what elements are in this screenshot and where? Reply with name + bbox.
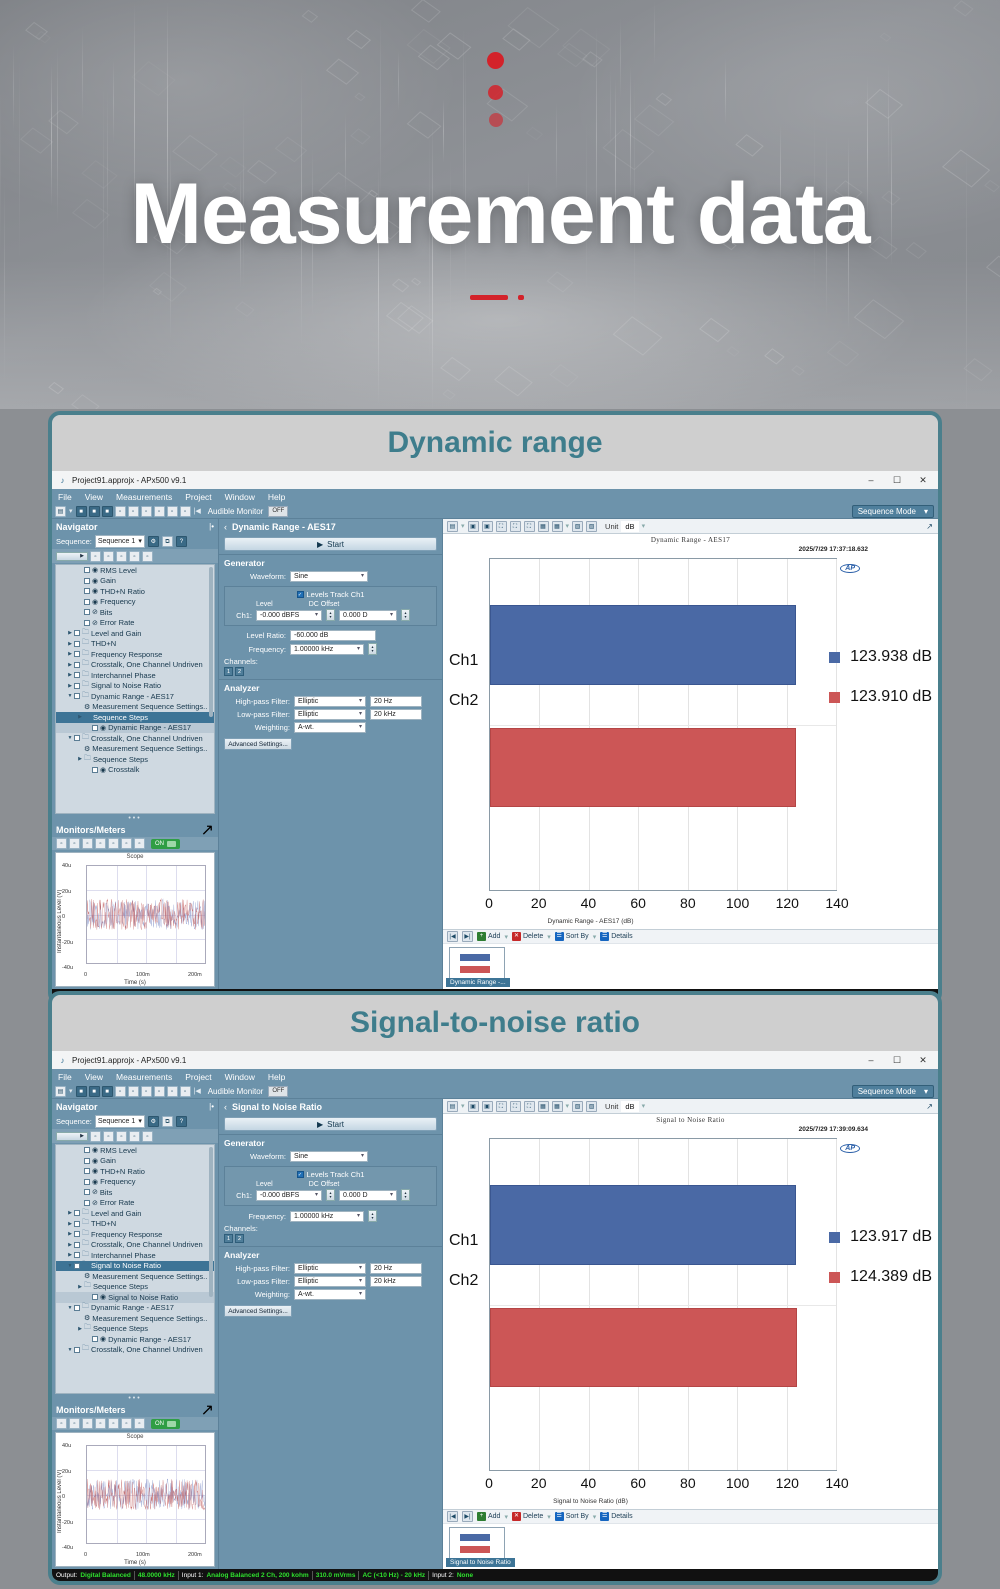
export-graph-icon[interactable]: ▣ bbox=[468, 521, 479, 532]
result-sort-by-button[interactable]: ☰Sort By bbox=[555, 932, 589, 941]
chevron-right-icon[interactable]: ▶ bbox=[66, 1231, 74, 1237]
ch1-level-input[interactable]: -0.000 dBFS▾ bbox=[256, 1190, 322, 1201]
tree-item[interactable]: ▶🗀Interchannel Phase bbox=[56, 670, 214, 681]
checkbox[interactable] bbox=[84, 599, 90, 605]
checkbox[interactable] bbox=[74, 1347, 80, 1353]
minimize-button[interactable]: – bbox=[858, 1051, 884, 1069]
monitors-power-toggle[interactable]: ON bbox=[151, 1419, 180, 1429]
start-button[interactable]: ▶Start bbox=[224, 1117, 437, 1131]
tree-item[interactable]: ▶🗀THD+N bbox=[56, 1219, 214, 1230]
chevron-down-icon[interactable]: ▼ bbox=[66, 1305, 74, 1311]
tree-item[interactable]: ▶🗀Interchannel Phase bbox=[56, 1250, 214, 1261]
graph-toolbar: ▤▾▣▣⛶⛶⛶▦▦▾▧▧UnitdB▾↗ bbox=[443, 519, 938, 534]
menu-item-project[interactable]: Project bbox=[185, 1072, 211, 1082]
frequency-input[interactable]: 1.00000 kHz▾ bbox=[290, 644, 364, 655]
bar-meter-icon[interactable]: ▫ bbox=[128, 1086, 139, 1097]
tree-item[interactable]: ⚙Measurement Sequence Settings.. bbox=[56, 1313, 214, 1324]
save-graph-icon[interactable]: ▤ bbox=[447, 1101, 458, 1112]
fft-icon[interactable]: ▫ bbox=[121, 1418, 132, 1429]
unit-select[interactable]: dB bbox=[621, 521, 638, 532]
delete-icon[interactable]: ▫ bbox=[116, 551, 127, 562]
collapse-icon[interactable]: ▫ bbox=[142, 1131, 153, 1142]
channels-row: Channels: bbox=[219, 656, 442, 667]
checkbox[interactable] bbox=[92, 1294, 98, 1300]
frequency-stepper[interactable]: ▴▾ bbox=[368, 1210, 377, 1222]
tree-item[interactable]: ⊘Error Rate bbox=[56, 618, 214, 629]
clock-icon[interactable]: ▫ bbox=[108, 1418, 119, 1429]
bar-meter-icon[interactable]: ▫ bbox=[128, 506, 139, 517]
tree-item[interactable]: ▶🗀Sequence Steps bbox=[56, 1282, 214, 1293]
tree-item[interactable]: ◉THD+N Ratio bbox=[56, 586, 214, 597]
checkbox[interactable] bbox=[84, 1168, 90, 1174]
start-button-label: Start bbox=[327, 540, 344, 549]
panel-pin-icon[interactable]: |• bbox=[209, 1102, 214, 1111]
dropdown-caret-icon[interactable]: ▾ bbox=[593, 1513, 597, 1521]
checkbox[interactable] bbox=[84, 1158, 90, 1164]
checkbox[interactable] bbox=[74, 1242, 80, 1248]
signal-path-icon[interactable]: ▫ bbox=[115, 506, 126, 517]
meters-icon[interactable]: ▫ bbox=[95, 1418, 106, 1429]
chevron-down-icon[interactable]: ▼ bbox=[66, 1263, 74, 1269]
chevron-right-icon[interactable]: ▶ bbox=[76, 756, 84, 762]
tree-item[interactable]: ◉Crosstalk bbox=[56, 765, 214, 776]
open-project-icon[interactable]: ■ bbox=[76, 506, 87, 517]
menu-item-help[interactable]: Help bbox=[268, 1072, 285, 1082]
monitors-header: Monitors/Meters↗ bbox=[52, 1403, 218, 1417]
navigator-button-row: ▶▫▫▫▫▫ bbox=[52, 549, 218, 563]
dropdown-caret-icon[interactable]: ▾ bbox=[68, 507, 74, 515]
unit-select[interactable]: dB bbox=[621, 1101, 638, 1112]
spectrum-icon[interactable]: ▫ bbox=[82, 1418, 93, 1429]
first-result-icon[interactable]: |◀ bbox=[447, 931, 458, 942]
fit-icon[interactable]: ⛶ bbox=[510, 521, 521, 532]
print-graph-icon[interactable]: ▣ bbox=[482, 1101, 493, 1112]
chevron-down-icon[interactable]: ▼ bbox=[66, 693, 74, 699]
tree-item[interactable]: ⊘Bits bbox=[56, 607, 214, 618]
levels-track-checkbox[interactable]: ✓ bbox=[297, 591, 304, 598]
dropdown-caret-icon[interactable]: ▾ bbox=[593, 933, 597, 941]
maximize-button[interactable]: ☐ bbox=[884, 1051, 910, 1069]
weighting-select[interactable]: A-wt.▾ bbox=[294, 1289, 366, 1300]
channel-button-1[interactable]: 1 bbox=[224, 1234, 233, 1243]
dropdown-caret-icon[interactable]: ▾ bbox=[566, 1102, 570, 1110]
menu-item-measurements[interactable]: Measurements bbox=[116, 492, 172, 502]
advanced-settings-button[interactable]: Advanced Settings... bbox=[224, 738, 292, 750]
back-chevron-icon[interactable]: ‹ bbox=[224, 522, 227, 532]
levels-view-icon[interactable]: ▫ bbox=[69, 1418, 80, 1429]
expand-icon[interactable]: ⛶ bbox=[524, 521, 535, 532]
highpass-frequency-input[interactable]: 20 Hz bbox=[370, 1263, 422, 1274]
tree-item[interactable]: ⚙Measurement Sequence Settings.. bbox=[56, 702, 214, 713]
divider bbox=[134, 1571, 135, 1580]
folder-icon: 🗀 bbox=[82, 1229, 89, 1240]
close-button[interactable]: ✕ bbox=[910, 1051, 936, 1069]
run-sequence-button[interactable]: ▶ bbox=[56, 552, 88, 561]
run-sequence-button[interactable]: ▶ bbox=[56, 1132, 88, 1141]
measurement-dot-icon: ◉ bbox=[92, 598, 98, 606]
tree-item[interactable]: ▶🗀THD+N bbox=[56, 639, 214, 650]
weighting-select[interactable]: A-wt.▾ bbox=[294, 722, 366, 733]
checkbox[interactable] bbox=[74, 1221, 80, 1227]
tree-item[interactable]: ◉Gain bbox=[56, 1156, 214, 1167]
chevron-right-icon[interactable]: ▶ bbox=[66, 672, 74, 678]
ch1-level-input[interactable]: -0.000 dBFS▾ bbox=[256, 610, 322, 621]
level-column-label: Level bbox=[256, 1181, 273, 1188]
chevron-right-icon[interactable]: ▶ bbox=[66, 1242, 74, 1248]
menu-item-measurements[interactable]: Measurements bbox=[116, 1072, 172, 1082]
lowpass-frequency-input[interactable]: 20 kHz bbox=[370, 1276, 422, 1287]
tree-item[interactable]: ⚙Measurement Sequence Settings.. bbox=[56, 744, 214, 755]
expand-icon[interactable]: ⛶ bbox=[524, 1101, 535, 1112]
highpass-filter-value: Elliptic bbox=[298, 696, 318, 707]
result-add-button[interactable]: +Add bbox=[477, 932, 500, 941]
checkbox[interactable] bbox=[74, 662, 80, 668]
export-graph-icon[interactable]: ▣ bbox=[468, 1101, 479, 1112]
tree-item[interactable]: ▼🗀Dynamic Range - AES17 bbox=[56, 691, 214, 702]
graph-settings-icon[interactable]: ▧ bbox=[586, 521, 597, 532]
lowpass-filter-select[interactable]: Elliptic▾ bbox=[294, 709, 366, 720]
zoom-icon[interactable]: ⛶ bbox=[496, 1101, 507, 1112]
scope-view-icon[interactable]: ▫ bbox=[56, 1418, 67, 1429]
frequency-input[interactable]: 1.00000 kHz▾ bbox=[290, 1211, 364, 1222]
chart-category-label: Ch2 bbox=[449, 1272, 478, 1290]
analyzer-section-header: Analyzer bbox=[219, 679, 442, 695]
waveform-icon[interactable]: ▫ bbox=[154, 1086, 165, 1097]
dropdown-caret-icon[interactable]: ▾ bbox=[566, 522, 570, 530]
scope-plot-area bbox=[86, 1445, 206, 1544]
collapse-icon[interactable]: ▫ bbox=[142, 551, 153, 562]
result-delete-button[interactable]: ✕Delete bbox=[512, 932, 543, 941]
highpass-filter-select[interactable]: Elliptic▾ bbox=[294, 696, 366, 707]
dropdown-caret-icon[interactable]: ▾ bbox=[504, 1513, 508, 1521]
folder-icon: 🗀 bbox=[82, 1344, 89, 1355]
dropdown-caret-icon[interactable]: ▾ bbox=[68, 1087, 74, 1095]
chevron-right-icon[interactable]: ▶ bbox=[66, 683, 74, 689]
checkbox[interactable] bbox=[84, 588, 90, 594]
start-button[interactable]: ▶Start bbox=[224, 537, 437, 551]
checkbox[interactable] bbox=[74, 641, 80, 647]
tree-item[interactable]: ▶🗀Crosstalk, One Channel Undriven bbox=[56, 660, 214, 671]
monitors-power-toggle[interactable]: ON bbox=[151, 839, 180, 849]
tree-item[interactable]: ◉Frequency bbox=[56, 1177, 214, 1188]
ch1-level-stepper[interactable]: ▴▾ bbox=[326, 609, 335, 621]
result-details-button[interactable]: ☰Details bbox=[600, 1512, 632, 1521]
menu-item-project[interactable]: Project bbox=[185, 492, 211, 502]
frequency-stepper[interactable]: ▴▾ bbox=[368, 643, 377, 655]
checkbox[interactable] bbox=[74, 735, 80, 741]
clock-icon[interactable]: ▫ bbox=[167, 1086, 178, 1097]
save-graph-icon[interactable]: ▤ bbox=[447, 521, 458, 532]
tree-item[interactable]: ◉RMS Level bbox=[56, 565, 214, 576]
clock-icon[interactable]: ▫ bbox=[167, 506, 178, 517]
measurement-dot-icon: ◉ bbox=[92, 587, 98, 595]
tree-item-label: Signal to Noise Ratio bbox=[108, 1293, 178, 1302]
chart-icon[interactable]: ▫ bbox=[103, 1131, 114, 1142]
back-chevron-icon[interactable]: ‹ bbox=[224, 1102, 227, 1112]
dropdown-caret-icon[interactable]: ▾ bbox=[504, 933, 508, 941]
chevron-right-icon[interactable]: ▶ bbox=[66, 1221, 74, 1227]
chart-icon[interactable]: ▫ bbox=[103, 551, 114, 562]
measurement-card: Dynamic range♪Project91.approjx - APx500… bbox=[48, 411, 942, 1005]
list-icon[interactable]: ▫ bbox=[134, 838, 145, 849]
panel-resize-handle[interactable]: ••• bbox=[52, 815, 218, 823]
print-graph-icon[interactable]: ▣ bbox=[482, 521, 493, 532]
export-icon[interactable]: ▫ bbox=[129, 1131, 140, 1142]
ch1-dc-offset-value: 0.000 D bbox=[343, 1190, 368, 1201]
checkbox[interactable] bbox=[74, 693, 80, 699]
tree-item[interactable]: ▼🗀Crosstalk, One Channel Undriven bbox=[56, 733, 214, 744]
chevron-down-icon[interactable]: ▾ bbox=[642, 1102, 646, 1110]
spectrum-icon[interactable]: ▫ bbox=[82, 838, 93, 849]
checkbox[interactable] bbox=[84, 567, 90, 573]
first-result-icon[interactable]: |◀ bbox=[447, 1511, 458, 1522]
tree-item[interactable]: ▶🗀Frequency Response bbox=[56, 1229, 214, 1240]
checkbox[interactable] bbox=[74, 1305, 80, 1311]
lowpass-frequency-input[interactable]: 20 kHz bbox=[370, 709, 422, 720]
checkbox[interactable] bbox=[84, 578, 90, 584]
close-button[interactable]: ✕ bbox=[910, 471, 936, 489]
popout-icon[interactable]: ↗ bbox=[926, 522, 933, 531]
chevron-down-icon[interactable]: ▼ bbox=[66, 735, 74, 741]
dropdown-caret-icon[interactable]: ▾ bbox=[547, 1513, 551, 1521]
report-icon[interactable]: ▫ bbox=[141, 506, 152, 517]
checkbox[interactable] bbox=[74, 1252, 80, 1258]
menu-item-window[interactable]: Window bbox=[225, 1072, 255, 1082]
fit-icon[interactable]: ⛶ bbox=[510, 1101, 521, 1112]
channel-button-2[interactable]: 2 bbox=[235, 667, 244, 676]
chevron-right-icon[interactable]: ▶ bbox=[76, 1326, 84, 1332]
chevron-right-icon[interactable]: ▶ bbox=[76, 714, 84, 720]
tree-item[interactable]: ▼🗀Crosstalk, One Channel Undriven bbox=[56, 1345, 214, 1356]
open-project-icon[interactable]: ■ bbox=[76, 1086, 87, 1097]
sequence-mode-selector[interactable]: Sequence Mode▾ bbox=[852, 1085, 934, 1098]
delete-icon[interactable]: ▫ bbox=[116, 1131, 127, 1142]
chevron-down-icon[interactable]: ▾ bbox=[642, 522, 646, 530]
sequence-select[interactable]: Sequence 1▾ bbox=[95, 1115, 145, 1128]
result-button-label: Sort By bbox=[566, 1513, 589, 1520]
ch1-dc-offset-stepper[interactable]: ▴▾ bbox=[401, 1189, 410, 1201]
chevron-right-icon[interactable]: ▶ bbox=[66, 1252, 74, 1258]
menu-item-file[interactable]: File bbox=[58, 492, 72, 502]
help-icon[interactable]: ? bbox=[176, 536, 187, 547]
menu-item-view[interactable]: View bbox=[85, 1072, 103, 1082]
sequence-mode-selector[interactable]: Sequence Mode▾ bbox=[852, 505, 934, 518]
scope-x-tick: 100m bbox=[136, 1552, 150, 1558]
popout-icon[interactable]: ↗ bbox=[201, 1400, 214, 1420]
result-thumbnail[interactable] bbox=[449, 1527, 505, 1559]
chevron-right-icon[interactable]: ▶ bbox=[66, 641, 74, 647]
tree-item[interactable]: ▶🗀Sequence Steps bbox=[56, 754, 214, 765]
result-details-button[interactable]: ☰Details bbox=[600, 932, 632, 941]
signal-path-icon[interactable]: ▫ bbox=[115, 1086, 126, 1097]
zoom-icon[interactable]: ⛶ bbox=[496, 521, 507, 532]
scope-y-tick: -40u bbox=[62, 965, 73, 971]
checkbox[interactable] bbox=[74, 1231, 80, 1237]
waveform-select[interactable]: Sine▾ bbox=[290, 1151, 368, 1162]
dropdown-caret-icon[interactable]: ▾ bbox=[461, 1102, 465, 1110]
scope-view-icon[interactable]: ▫ bbox=[56, 838, 67, 849]
panel-pin-icon[interactable]: |• bbox=[209, 522, 214, 531]
navigator-tree[interactable]: ◉RMS Level◉Gain◉THD+N Ratio◉Frequency⊘Bi… bbox=[55, 564, 215, 814]
waveform-select[interactable]: Sine▾ bbox=[290, 571, 368, 582]
table-view-icon[interactable]: ▦ bbox=[538, 521, 549, 532]
prev-icon[interactable]: |◀ bbox=[193, 507, 202, 515]
ch1-dc-offset-stepper[interactable]: ▴▾ bbox=[401, 609, 410, 621]
dropdown-caret-icon[interactable]: ▾ bbox=[461, 522, 465, 530]
tree-item[interactable]: ▶🗀Sequence Steps bbox=[56, 1324, 214, 1335]
tree-item[interactable]: ▶🗀Level and Gain bbox=[56, 628, 214, 639]
checkbox[interactable] bbox=[74, 1263, 80, 1269]
navigator-tree[interactable]: ◉RMS Level◉Gain◉THD+N Ratio◉Frequency⊘Bi… bbox=[55, 1144, 215, 1394]
table-view-icon[interactable]: ▦ bbox=[538, 1101, 549, 1112]
tree-item[interactable]: ⚙Measurement Sequence Settings.. bbox=[56, 1271, 214, 1282]
checkbox[interactable] bbox=[74, 672, 80, 678]
tree-item-label: THD+N bbox=[91, 1219, 116, 1228]
popout-icon[interactable]: ↗ bbox=[201, 820, 214, 840]
save-project-icon[interactable]: ■ bbox=[89, 506, 100, 517]
levels-track-checkbox[interactable]: ✓ bbox=[297, 1171, 304, 1178]
checkbox[interactable] bbox=[92, 1336, 98, 1342]
minimize-button[interactable]: – bbox=[858, 471, 884, 489]
audible-monitor-toggle[interactable]: OFF bbox=[268, 1086, 288, 1097]
tree-item[interactable]: ▶🗀Frequency Response bbox=[56, 649, 214, 660]
chevron-down-icon[interactable]: ▼ bbox=[66, 1347, 74, 1353]
tree-item[interactable]: ▼🗀Signal to Noise Ratio bbox=[56, 1261, 214, 1272]
tree-item[interactable]: ◉RMS Level bbox=[56, 1145, 214, 1156]
checkbox[interactable] bbox=[74, 630, 80, 636]
settings-gear-icon[interactable]: ⚙ bbox=[148, 536, 159, 547]
list-icon[interactable]: ▫ bbox=[134, 1418, 145, 1429]
tree-item[interactable]: ▼🗀Dynamic Range - AES17 bbox=[56, 1303, 214, 1314]
checkbox[interactable] bbox=[84, 620, 90, 626]
new-project-icon[interactable]: ▤ bbox=[55, 506, 66, 517]
settings-gear-icon[interactable]: ■ bbox=[102, 1086, 113, 1097]
tree-scrollbar[interactable] bbox=[209, 1147, 213, 1297]
fft-icon[interactable]: ▫ bbox=[121, 838, 132, 849]
result-delete-button[interactable]: ✕Delete bbox=[512, 1512, 543, 1521]
result-add-button[interactable]: +Add bbox=[477, 1512, 500, 1521]
copy-icon[interactable]: ⧉ bbox=[162, 1116, 173, 1127]
scope-icon[interactable]: ▫ bbox=[180, 506, 191, 517]
report-icon[interactable]: ▫ bbox=[141, 1086, 152, 1097]
checkbox[interactable] bbox=[74, 683, 80, 689]
chevron-right-icon[interactable]: ▶ bbox=[66, 630, 74, 636]
tree-scrollbar[interactable] bbox=[209, 567, 213, 717]
new-project-icon[interactable]: ▤ bbox=[55, 1086, 66, 1097]
channel-button-1[interactable]: 1 bbox=[224, 667, 233, 676]
insert-icon[interactable]: ▫ bbox=[90, 551, 101, 562]
menu-item-help[interactable]: Help bbox=[268, 492, 285, 502]
prev-icon[interactable]: |◀ bbox=[193, 1087, 202, 1095]
menu-item-view[interactable]: View bbox=[85, 492, 103, 502]
waveform-label: Waveform: bbox=[224, 572, 286, 581]
checkbox[interactable] bbox=[92, 725, 98, 731]
graph-settings-icon[interactable]: ▧ bbox=[586, 1101, 597, 1112]
ch1-level-stepper[interactable]: ▴▾ bbox=[326, 1189, 335, 1201]
menu-item-file[interactable]: File bbox=[58, 1072, 72, 1082]
highpass-filter-select[interactable]: Elliptic▾ bbox=[294, 1263, 366, 1274]
tree-item[interactable]: ◉Dynamic Range - AES17 bbox=[56, 723, 214, 734]
tree-item[interactable]: ▶🗀Sequence Steps bbox=[56, 712, 214, 723]
tree-item[interactable]: ◉Dynamic Range - AES17 bbox=[56, 1334, 214, 1345]
dropdown-caret-icon[interactable]: ▾ bbox=[547, 933, 551, 941]
result-button-label: Sort By bbox=[566, 933, 589, 940]
checkbox[interactable] bbox=[92, 767, 98, 773]
audible-monitor-toggle[interactable]: OFF bbox=[268, 506, 288, 517]
level-ratio-input[interactable]: -60.000 dB bbox=[290, 630, 376, 641]
chevron-right-icon[interactable]: ▶ bbox=[66, 1210, 74, 1216]
chevron-right-icon[interactable]: ▶ bbox=[66, 651, 74, 657]
maximize-button[interactable]: ☐ bbox=[884, 471, 910, 489]
result-sort-by-button[interactable]: ☰Sort By bbox=[555, 1512, 589, 1521]
result-button-label: Delete bbox=[523, 933, 543, 940]
advanced-settings-button[interactable]: Advanced Settings... bbox=[224, 1305, 292, 1317]
checkbox[interactable] bbox=[74, 651, 80, 657]
tree-item[interactable]: ▶🗀Crosstalk, One Channel Undriven bbox=[56, 1240, 214, 1251]
result-thumbnail[interactable] bbox=[449, 947, 505, 979]
legend-icon[interactable]: ▦ bbox=[552, 1101, 563, 1112]
cursor-icon[interactable]: ▧ bbox=[572, 521, 583, 532]
legend-icon[interactable]: ▦ bbox=[552, 521, 563, 532]
tree-item[interactable]: ◉Gain bbox=[56, 576, 214, 587]
tree-item[interactable]: ◉THD+N Ratio bbox=[56, 1166, 214, 1177]
tree-item[interactable]: ▶🗀Level and Gain bbox=[56, 1208, 214, 1219]
copy-icon[interactable]: ⧉ bbox=[162, 536, 173, 547]
menu-item-window[interactable]: Window bbox=[225, 492, 255, 502]
levels-track-row: ✓Levels Track Ch1 bbox=[228, 590, 433, 599]
tree-item[interactable]: ▶🗀Signal to Noise Ratio bbox=[56, 681, 214, 692]
clock-icon[interactable]: ▫ bbox=[108, 838, 119, 849]
levels-view-icon[interactable]: ▫ bbox=[69, 838, 80, 849]
highpass-frequency-input[interactable]: 20 Hz bbox=[370, 696, 422, 707]
last-result-icon[interactable]: ▶| bbox=[462, 931, 473, 942]
weighting-row: Weighting:A-wt.▾ bbox=[219, 721, 442, 734]
panel-resize-handle[interactable]: ••• bbox=[52, 1395, 218, 1403]
checkbox[interactable] bbox=[84, 1200, 90, 1206]
meters-icon[interactable]: ▫ bbox=[95, 838, 106, 849]
settings-gear-icon[interactable]: ■ bbox=[102, 506, 113, 517]
checkbox[interactable] bbox=[84, 1179, 90, 1185]
lowpass-filter-select[interactable]: Elliptic▾ bbox=[294, 1276, 366, 1287]
export-icon[interactable]: ▫ bbox=[129, 551, 140, 562]
sequence-select[interactable]: Sequence 1▾ bbox=[95, 535, 145, 548]
tree-item[interactable]: ◉Frequency bbox=[56, 597, 214, 608]
insert-icon[interactable]: ▫ bbox=[90, 1131, 101, 1142]
tree-item[interactable]: ⊘Bits bbox=[56, 1187, 214, 1198]
tree-item[interactable]: ⊘Error Rate bbox=[56, 1198, 214, 1209]
cursor-icon[interactable]: ▧ bbox=[572, 1101, 583, 1112]
settings-gear-icon[interactable]: ⚙ bbox=[148, 1116, 159, 1127]
scope-icon[interactable]: ▫ bbox=[180, 1086, 191, 1097]
tree-item[interactable]: ◉Signal to Noise Ratio bbox=[56, 1292, 214, 1303]
ch1-dc-offset-input[interactable]: 0.000 D▾ bbox=[339, 1190, 397, 1201]
channel-button-2[interactable]: 2 bbox=[235, 1234, 244, 1243]
chart-legend-entry: 123.938 dB bbox=[829, 648, 932, 666]
save-project-icon[interactable]: ■ bbox=[89, 1086, 100, 1097]
waveform-icon[interactable]: ▫ bbox=[154, 506, 165, 517]
checkbox[interactable] bbox=[84, 609, 90, 615]
status-input2-value: None bbox=[457, 1572, 473, 1579]
ch1-dc-offset-input[interactable]: 0.000 D▾ bbox=[339, 610, 397, 621]
checkbox[interactable] bbox=[84, 1147, 90, 1153]
chevron-right-icon[interactable]: ▶ bbox=[66, 662, 74, 668]
last-result-icon[interactable]: ▶| bbox=[462, 1511, 473, 1522]
chevron-right-icon[interactable]: ▶ bbox=[76, 1284, 84, 1290]
checkbox[interactable] bbox=[84, 1189, 90, 1195]
help-icon[interactable]: ? bbox=[176, 1116, 187, 1127]
popout-icon[interactable]: ↗ bbox=[926, 1102, 933, 1111]
checkbox[interactable] bbox=[74, 1210, 80, 1216]
